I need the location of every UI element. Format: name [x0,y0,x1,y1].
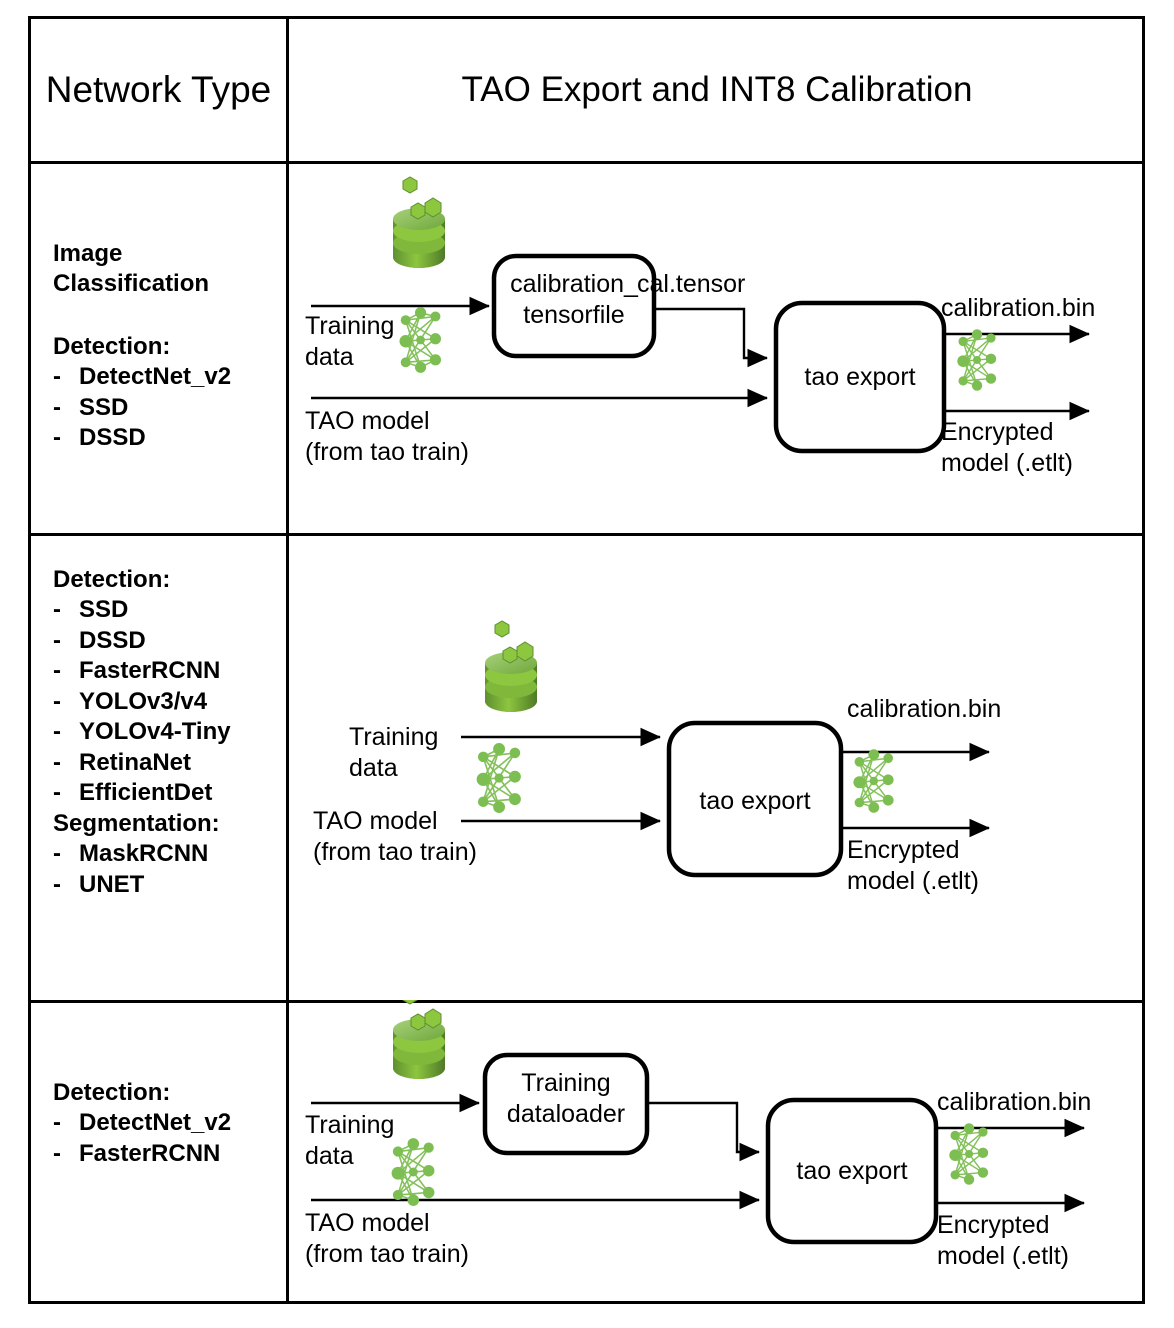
list-item-label: DetectNet_v2 [79,362,231,392]
calibration-tensorfile-node[interactable]: calibration_ tensorfile [494,269,654,330]
list-item: -RetinaNet [53,748,286,778]
list-item-label: EfficientDet [79,778,212,808]
list-item-label: RetinaNet [79,748,191,778]
database-icon [393,1000,445,1079]
training-data-label: Training data [349,722,438,783]
calibration-bin-label: calibration.bin [937,1087,1091,1118]
list-item: -DetectNet_v2 [53,1108,286,1138]
header-tao-export: TAO Export and INT8 Calibration [289,19,1145,161]
bullet-dash: - [53,839,79,869]
training-dataloader-node[interactable]: Training dataloader [485,1068,647,1129]
bullet-dash: - [53,717,79,747]
list-item: - DetectNet_v2 [53,362,286,392]
training-data-label: Training data [305,1110,394,1171]
training-data-label: Training data [305,311,394,372]
tao-export-node[interactable]: tao export [776,362,944,393]
list-item-label: FasterRCNN [79,656,220,686]
bullet-dash: - [53,778,79,808]
database-icon [393,177,445,268]
calibration-bin-label: calibration.bin [941,293,1095,324]
list-item-label: DetectNet_v2 [79,1108,231,1138]
tao-model-label: TAO model (from tao train) [305,406,469,467]
bullet-dash: - [53,362,79,392]
list-item-label: SSD [79,393,128,423]
bullet-dash: - [53,870,79,900]
network-type-cell-1: Image Classification Detection: - Detect… [31,161,286,533]
bullet-dash: - [53,595,79,625]
encrypted-model-label: Encrypted model (.etlt) [847,835,979,896]
bullet-dash: - [53,687,79,717]
group-label: Segmentation: [53,809,286,839]
list-item-label: UNET [79,870,144,900]
encrypted-model-label: Encrypted model (.etlt) [937,1210,1069,1271]
network-export-table: Network Type TAO Export and INT8 Calibra… [28,16,1145,1304]
list-item: -DSSD [53,626,286,656]
group-label: Detection: [53,1078,286,1108]
neural-network-icon [477,743,521,813]
neural-network-icon [399,307,441,373]
bullet-dash: - [53,626,79,656]
list-item: - SSD [53,393,286,423]
database-icon [485,621,537,712]
bullet-dash: - [53,748,79,778]
list-item-label: YOLOv3/v4 [79,687,207,717]
bullet-dash: - [53,1108,79,1138]
list-item-label: FasterRCNN [79,1139,220,1169]
list-item: -FasterRCNN [53,1139,286,1169]
diagram-row-3: Training data TAO model (from tao train)… [289,1000,1145,1304]
diagram-page: Network Type TAO Export and INT8 Calibra… [0,0,1174,1328]
encrypted-model-label: Encrypted model (.etlt) [941,417,1073,478]
list-item: -UNET [53,870,286,900]
spacer [53,300,286,332]
neural-network-icon [957,329,996,390]
bullet-dash: - [53,423,79,453]
tao-model-label: TAO model (from tao train) [313,806,477,867]
group-label: Detection: [53,565,286,595]
list-item: -MaskRCNN [53,839,286,869]
list-item-label: SSD [79,595,128,625]
list-item: - DSSD [53,423,286,453]
list-item: -YOLOv3/v4 [53,687,286,717]
tao-export-node[interactable]: tao export [768,1156,936,1187]
network-type-title-1: Image Classification [53,239,286,300]
network-type-cell-3: Detection: -DetectNet_v2 -FasterRCNN [31,1000,286,1304]
bullet-dash: - [53,1139,79,1169]
tao-export-node[interactable]: tao export [669,786,841,817]
list-item-label: MaskRCNN [79,839,208,869]
list-item-label: YOLOv4-Tiny [79,717,231,747]
list-item: -YOLOv4-Tiny [53,717,286,747]
calibration-bin-label: calibration.bin [847,694,1001,725]
list-item: -SSD [53,595,286,625]
list-item-label: DSSD [79,423,146,453]
list-item: -FasterRCNN [53,656,286,686]
bullet-dash: - [53,393,79,423]
network-type-cell-2: Detection: -SSD -DSSD -FasterRCNN -YOLOv… [31,533,286,1000]
header-network-type: Network Type [31,19,286,161]
neural-network-icon [853,749,893,813]
list-item: -EfficientDet [53,778,286,808]
diagram-row-1: Training data TAO model (from tao train)… [289,161,1145,533]
bullet-dash: - [53,656,79,686]
diagram-row-2: Training data TAO model (from tao train)… [289,533,1145,1000]
group-label: Detection: [53,332,286,362]
list-item-label: DSSD [79,626,146,656]
neural-network-icon [392,1138,435,1206]
neural-network-icon [949,1123,988,1184]
cal-tensor-edge-label: cal.tensor [637,269,745,300]
tao-model-label: TAO model (from tao train) [305,1208,469,1269]
